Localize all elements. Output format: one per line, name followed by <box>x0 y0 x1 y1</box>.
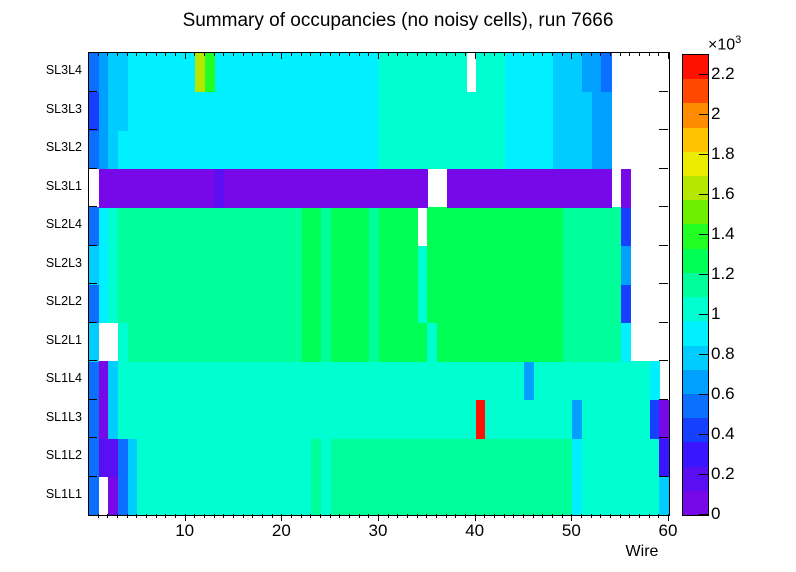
y-axis-label-sl3l1: SL3L1 <box>26 181 82 191</box>
x-axis-tick-top <box>581 52 582 56</box>
heatmap-cell <box>621 284 631 323</box>
x-axis-tick-top <box>330 52 331 56</box>
x-axis-tick <box>668 514 669 521</box>
palette-tick <box>699 274 708 275</box>
palette-band <box>683 393 708 418</box>
x-axis-tick-top <box>600 52 601 56</box>
x-axis-tick-top <box>475 52 476 59</box>
x-axis-tick <box>223 514 224 518</box>
x-axis-tick-top <box>552 52 553 56</box>
y-axis-tick <box>659 476 668 477</box>
x-axis-tick <box>446 514 447 518</box>
palette-exponent-label: ×103 <box>708 34 741 54</box>
x-axis-tick-top <box>156 52 157 56</box>
x-axis-tick-top <box>571 52 572 59</box>
x-axis-tick-top <box>310 52 311 56</box>
x-axis-tick <box>175 514 176 518</box>
y-axis-tick <box>88 168 97 169</box>
x-axis-tick <box>98 514 99 518</box>
palette-tick <box>699 474 708 475</box>
x-axis-tick <box>533 514 534 518</box>
x-axis-tick-top <box>185 52 186 59</box>
heatmap-cell <box>456 53 466 92</box>
palette-band <box>683 79 708 104</box>
palette-band <box>683 175 708 200</box>
x-axis-tick-top <box>658 52 659 56</box>
y-axis-label-sl2l4: SL2L4 <box>26 219 82 229</box>
x-axis-tick <box>417 514 418 518</box>
x-axis-tick-top <box>117 52 118 56</box>
x-axis-tick-label: 50 <box>546 521 596 541</box>
x-axis-tick-top <box>146 52 147 56</box>
y-axis-label-sl1l1: SL1L1 <box>26 489 82 499</box>
x-axis-tick <box>243 514 244 518</box>
x-axis-tick <box>465 514 466 518</box>
x-axis-tick-top <box>175 52 176 56</box>
y-axis-label-sl1l3: SL1L3 <box>26 412 82 422</box>
x-axis-tick-top <box>407 52 408 56</box>
x-axis-tick-top <box>668 52 669 59</box>
x-axis-tick-top <box>523 52 524 56</box>
y-axis-tick <box>659 245 668 246</box>
x-axis-tick-label: 10 <box>160 521 210 541</box>
x-axis-tick <box>117 514 118 518</box>
x-axis-tick <box>214 514 215 518</box>
heatmap-cell <box>601 92 611 131</box>
x-axis-tick-top <box>591 52 592 56</box>
palette-tick-label: 1.2 <box>711 265 735 282</box>
heatmap-cell <box>621 207 631 246</box>
y-axis-tick <box>88 206 97 207</box>
heatmap-cell <box>659 477 669 516</box>
x-axis-tick-top <box>107 52 108 56</box>
y-axis-label-sl2l1: SL2L1 <box>26 335 82 345</box>
x-axis-tick <box>349 514 350 518</box>
x-axis-tick-top <box>359 52 360 56</box>
x-axis-tick-label: 30 <box>353 521 403 541</box>
y-axis-tick <box>659 283 668 284</box>
x-axis-tick <box>407 514 408 518</box>
x-axis-tick <box>620 514 621 518</box>
x-axis-tick <box>571 514 572 521</box>
palette-tick-label: 1.4 <box>711 225 735 242</box>
palette-band <box>683 127 708 152</box>
palette-tick-label: 0.4 <box>711 425 735 442</box>
x-axis-tick <box>388 514 389 518</box>
palette-tick <box>699 434 708 435</box>
y-axis-tick <box>88 245 97 246</box>
x-axis-tick-top <box>98 52 99 56</box>
heatmap-cell <box>601 130 611 169</box>
heatmap-cell <box>621 169 631 208</box>
x-axis-tick-top <box>272 52 273 56</box>
x-axis-tick-top <box>446 52 447 56</box>
x-axis-tick <box>658 514 659 518</box>
y-axis-tick <box>659 437 668 438</box>
x-axis-tick <box>552 514 553 518</box>
y-axis-tick <box>88 91 97 92</box>
palette-tick <box>699 154 708 155</box>
x-axis-tick <box>252 514 253 518</box>
x-axis-tick-top <box>368 52 369 56</box>
palette-tick <box>699 74 708 75</box>
x-axis-tick <box>204 514 205 518</box>
x-axis-tick-top <box>339 52 340 56</box>
x-axis-tick-top <box>262 52 263 56</box>
x-axis-tick-top <box>320 52 321 56</box>
x-axis-tick <box>523 514 524 518</box>
palette-band <box>683 200 708 225</box>
page-title: Summary of occupancies (no noisy cells),… <box>0 10 796 32</box>
palette-band <box>683 248 708 273</box>
palette-band <box>683 490 708 515</box>
x-axis-tick-top <box>194 52 195 56</box>
y-axis-tick <box>88 437 97 438</box>
color-palette-bar <box>682 54 709 516</box>
x-axis-tick <box>194 514 195 518</box>
palette-tick-label: 0.2 <box>711 465 735 482</box>
heatmap-cell <box>89 477 99 516</box>
palette-band <box>683 466 708 491</box>
y-axis-tick <box>659 129 668 130</box>
x-axis-tick-top <box>223 52 224 56</box>
palette-band <box>683 345 708 370</box>
y-axis-tick <box>659 168 668 169</box>
palette-band <box>683 103 708 128</box>
x-axis-tick <box>165 514 166 518</box>
x-axis-tick <box>185 514 186 521</box>
x-axis-tick-top <box>533 52 534 56</box>
x-axis-tick <box>359 514 360 518</box>
y-axis-tick <box>659 322 668 323</box>
palette-tick-label: 1.8 <box>711 145 735 162</box>
y-axis-tick <box>88 360 97 361</box>
heatmap-cells <box>89 53 669 515</box>
x-axis-tick <box>272 514 273 518</box>
palette-tick <box>699 394 708 395</box>
x-axis-tick-top <box>281 52 282 59</box>
y-axis-tick <box>659 399 668 400</box>
x-axis-tick-top <box>455 52 456 56</box>
y-axis-label-sl2l2: SL2L2 <box>26 296 82 306</box>
x-axis-tick <box>378 514 379 521</box>
palette-tick-label: 2 <box>711 105 720 122</box>
x-axis-tick-top <box>252 52 253 56</box>
x-axis-tick-top <box>513 52 514 56</box>
x-axis-tick-top <box>417 52 418 56</box>
x-axis-tick <box>591 514 592 518</box>
heatmap-cell <box>621 246 631 285</box>
palette-band <box>683 321 708 346</box>
palette-tick-label: 0.6 <box>711 385 735 402</box>
palette-tick-label: 0.8 <box>711 345 735 362</box>
x-axis-tick-top <box>620 52 621 56</box>
x-axis-tick-top <box>397 52 398 56</box>
x-axis-tick-top <box>629 52 630 56</box>
x-axis-tick-top <box>504 52 505 56</box>
palette-band <box>683 54 708 79</box>
palette-band <box>683 272 708 297</box>
palette-exponent-base: ×10 <box>708 36 735 53</box>
x-axis-tick-top <box>349 52 350 56</box>
x-axis-tick-top <box>610 52 611 56</box>
x-axis-tick <box>455 514 456 518</box>
heatmap-cell <box>659 400 669 439</box>
x-axis-tick-label: 20 <box>256 521 306 541</box>
heatmap-cell <box>418 169 428 208</box>
x-axis-tick <box>339 514 340 518</box>
x-axis-tick-top <box>465 52 466 56</box>
x-axis-tick-top <box>649 52 650 56</box>
heatmap-cell <box>659 438 669 477</box>
y-axis-label-sl1l4: SL1L4 <box>26 373 82 383</box>
x-axis-tick <box>513 514 514 518</box>
root-canvas: Summary of occupancies (no noisy cells),… <box>0 0 796 572</box>
y-axis-tick <box>659 206 668 207</box>
x-axis-tick <box>397 514 398 518</box>
palette-tick-label: 0 <box>711 505 720 522</box>
x-axis-tick <box>156 514 157 518</box>
palette-band <box>683 369 708 394</box>
x-axis-tick-top <box>562 52 563 56</box>
y-axis-label-sl3l3: SL3L3 <box>26 104 82 114</box>
x-axis-tick <box>504 514 505 518</box>
x-axis-tick-top <box>127 52 128 56</box>
y-axis-label-sl3l2: SL3L2 <box>26 142 82 152</box>
x-axis-tick-top <box>243 52 244 56</box>
x-axis-tick-top <box>484 52 485 56</box>
x-axis-tick-label: 60 <box>643 521 693 541</box>
x-axis-tick <box>107 514 108 518</box>
x-axis-tick <box>562 514 563 518</box>
x-axis-tick <box>310 514 311 518</box>
x-axis-tick-label: 40 <box>450 521 500 541</box>
x-axis-tick <box>136 514 137 518</box>
heatmap-cell <box>89 323 99 362</box>
palette-tick <box>699 114 708 115</box>
x-axis-tick <box>262 514 263 518</box>
x-axis-tick <box>639 514 640 518</box>
y-axis-tick <box>659 360 668 361</box>
palette-tick <box>699 514 708 515</box>
y-axis-tick <box>88 129 97 130</box>
palette-tick-label: 1 <box>711 305 720 322</box>
x-axis-tick-top <box>204 52 205 56</box>
palette-tick <box>699 354 708 355</box>
x-axis-tick <box>368 514 369 518</box>
x-axis-tick-top <box>233 52 234 56</box>
x-axis-tick <box>291 514 292 518</box>
x-axis-tick <box>127 514 128 518</box>
x-axis-tick-top <box>388 52 389 56</box>
x-axis-tick-top <box>542 52 543 56</box>
x-axis-tick <box>233 514 234 518</box>
x-axis-tick <box>475 514 476 521</box>
x-axis-tick-top <box>494 52 495 56</box>
x-axis-tick <box>649 514 650 518</box>
plot-frame <box>88 52 670 516</box>
heatmap-cell <box>621 323 631 362</box>
x-axis-tick-top <box>165 52 166 56</box>
x-axis-tick-top <box>378 52 379 59</box>
x-axis-tick <box>542 514 543 518</box>
palette-tick <box>699 194 708 195</box>
heatmap-cell <box>601 169 611 208</box>
y-axis-tick <box>88 322 97 323</box>
palette-tick-label: 2.2 <box>711 65 735 82</box>
palette-tick <box>699 314 708 315</box>
y-axis-tick <box>88 399 97 400</box>
x-axis-tick <box>330 514 331 518</box>
x-axis-tick <box>146 514 147 518</box>
palette-exponent-power: 3 <box>735 34 741 46</box>
y-axis-label-sl3l4: SL3L4 <box>26 65 82 75</box>
x-axis-tick <box>426 514 427 518</box>
y-axis-label-sl1l2: SL1L2 <box>26 450 82 460</box>
x-axis-title: Wire <box>612 543 672 561</box>
x-axis-tick-top <box>436 52 437 56</box>
x-axis-tick <box>494 514 495 518</box>
x-axis-tick-top <box>291 52 292 56</box>
x-axis-tick-top <box>301 52 302 56</box>
palette-band <box>683 224 708 249</box>
heatmap-cell <box>408 207 418 246</box>
y-axis-label-sl2l3: SL2L3 <box>26 258 82 268</box>
y-axis-tick <box>88 283 97 284</box>
x-axis-tick <box>610 514 611 518</box>
palette-band <box>683 418 708 443</box>
x-axis-tick <box>484 514 485 518</box>
x-axis-tick-top <box>426 52 427 56</box>
x-axis-tick-top <box>639 52 640 56</box>
x-axis-tick-top <box>214 52 215 56</box>
palette-band <box>683 297 708 322</box>
x-axis-tick-top <box>136 52 137 56</box>
x-axis-tick <box>629 514 630 518</box>
palette-tick-label: 1.6 <box>711 185 735 202</box>
x-axis-tick <box>581 514 582 518</box>
x-axis-tick <box>320 514 321 518</box>
y-axis-tick <box>659 91 668 92</box>
y-axis-tick <box>88 476 97 477</box>
x-axis-tick <box>600 514 601 518</box>
x-axis-tick <box>301 514 302 518</box>
x-axis-tick <box>436 514 437 518</box>
heatmap-cell <box>601 53 611 92</box>
x-axis-tick <box>281 514 282 521</box>
heatmap-cell <box>650 361 660 400</box>
palette-tick <box>699 234 708 235</box>
palette-band <box>683 442 708 467</box>
